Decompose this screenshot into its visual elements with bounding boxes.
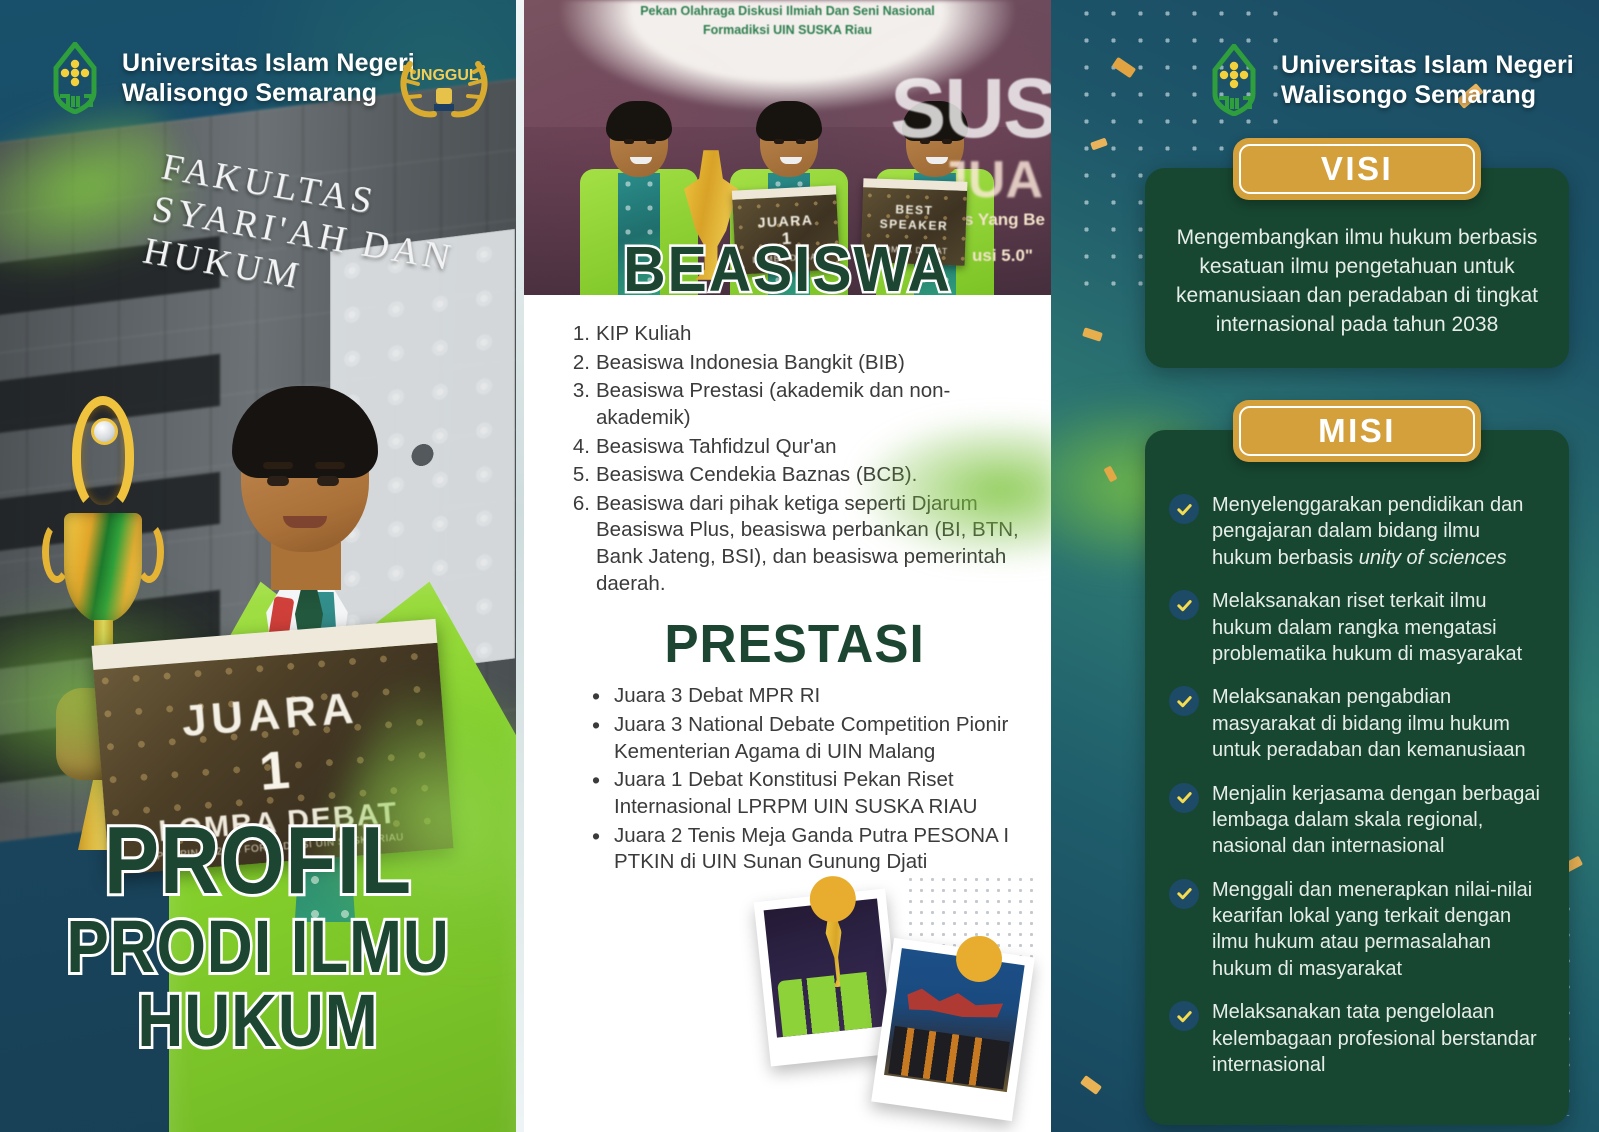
svg-text:UNGGUL: UNGGUL [409,67,479,84]
check-icon [1169,494,1199,524]
misi-item-text: Melaksanakan riset terkait ilmu hukum da… [1212,588,1545,667]
check-icon [1169,783,1199,813]
confetti [1080,1075,1102,1095]
misi-item-text: Menggali dan menerapkan nilai-nilai kear… [1212,877,1545,983]
list-item: Menyelenggarakan pendidikan dan pengajar… [1169,492,1545,571]
right-panel: Universitas Islam Negeri Walisongo Semar… [1051,0,1599,1132]
visi-card: VISI Mengembangkan ilmu hukum berbasis k… [1145,168,1569,368]
title-line-prodi: PRODI ILMU HUKUM [36,910,480,1058]
misi-list: Menyelenggarakan pendidikan dan pengajar… [1169,492,1545,1078]
check-icon [1169,590,1199,620]
misi-badge: MISI [1233,400,1481,462]
plaque-award-label: BEST SPEAKER [862,201,967,235]
polaroid-image [884,948,1025,1092]
misi-item-text: Menjalin kerjasama dengan berbagai lemba… [1212,781,1545,860]
list-item: KIP Kuliah [566,321,1023,348]
misi-item-text: Melaksanakan tata pengelolaan kelembagaa… [1212,999,1545,1078]
panel-divider [516,0,524,1132]
leaf-decoration [861,420,1051,560]
banner-line-1: Pekan Olahraga Diskusi Ilmiah Dan Seni N… [524,2,1051,21]
list-item: Melaksanakan tata pengelolaan kelembagaa… [1169,999,1545,1078]
unggul-accreditation-badge-icon: UNGGUL [392,46,496,124]
list-item: Juara 1 Debat Konstitusi Pekan Riset Int… [592,767,1023,820]
list-item: Juara 3 National Debate Competition Pion… [592,712,1023,765]
list-item: Menjalin kerjasama dengan berbagai lemba… [1169,781,1545,860]
list-item: Melaksanakan pengabdian masyarakat di bi… [1169,684,1545,763]
uin-walisongo-gunungan-logo-icon [44,42,106,114]
student-eyebrow-right [315,462,345,469]
right-header: Universitas Islam Negeri Walisongo Semar… [1203,44,1574,116]
misi-item-text: Menyelenggarakan pendidikan dan pengajar… [1212,492,1545,571]
misi-badge-label: MISI [1318,412,1396,450]
student-eyebrow-left [263,462,293,469]
prestasi-heading: PRESTASI [577,613,1011,675]
student-hair [232,386,378,478]
check-icon [1169,686,1199,716]
check-icon [1169,1001,1199,1031]
polaroid-trophy [824,912,848,987]
profile-title: PROFIL PRODI ILMU HUKUM [0,815,516,1058]
photo-overlay-small-1: s Yang Be [964,210,1045,230]
banner-line-2: Formadiksi UIN SUSKA Riau [524,21,1051,40]
left-header: Universitas Islam Negeri Walisongo Semar… [44,42,415,114]
achievement-list: Juara 3 Debat MPR RI Juara 3 National De… [566,683,1023,875]
confetti [1082,327,1103,341]
photo-event-banner: Pekan Olahraga Diskusi Ilmiah Dan Seni N… [524,2,1051,40]
list-item: Beasiswa Indonesia Bangkit (BIB) [566,350,1023,377]
indonesia-map-graphic [905,983,1004,1024]
student-mouth [283,516,327,528]
middle-panel: Pekan Olahraga Diskusi Ilmiah Dan Seni N… [524,0,1051,1132]
brochure-page: FAKULTAS SYARI'AH DAN HUKUM [0,0,1599,1132]
trophy-laurel [72,396,134,514]
list-item: Menggali dan menerapkan nilai-nilai kear… [1169,877,1545,983]
list-item: Juara 2 Tenis Meja Ganda Putra PESONA I … [592,823,1023,876]
university-name: Universitas Islam Negeri Walisongo Semar… [1281,50,1574,111]
visi-badge: VISI [1233,138,1481,200]
polaroid-photo-ceremony [871,938,1035,1121]
photo-overlay-text: SUS [890,60,1051,157]
misi-card: MISI Menyelenggarakan pendidikan dan pen… [1145,430,1569,1125]
title-line-profil: PROFIL [36,815,480,906]
visi-badge-label: VISI [1321,150,1393,188]
misi-item-text: Melaksanakan pengabdian masyarakat di bi… [1212,684,1545,763]
left-panel: FAKULTAS SYARI'AH DAN HUKUM [0,0,516,1132]
uin-walisongo-gunungan-logo-icon [1203,44,1265,116]
middle-content: KIP Kuliah Beasiswa Indonesia Bangkit (B… [524,295,1051,878]
check-icon [1169,879,1199,909]
student-eye-right [317,476,339,486]
list-item: Melaksanakan riset terkait ilmu hukum da… [1169,588,1545,667]
student-eye-left [267,476,289,486]
visi-text: Mengembangkan ilmu hukum berbasis kesatu… [1171,224,1543,340]
trophy-medal [91,418,118,445]
beasiswa-heading: BEASISWA [545,232,1030,306]
list-item: Juara 3 Debat MPR RI [592,683,1023,710]
university-name: Universitas Islam Negeri Walisongo Semar… [122,48,415,109]
